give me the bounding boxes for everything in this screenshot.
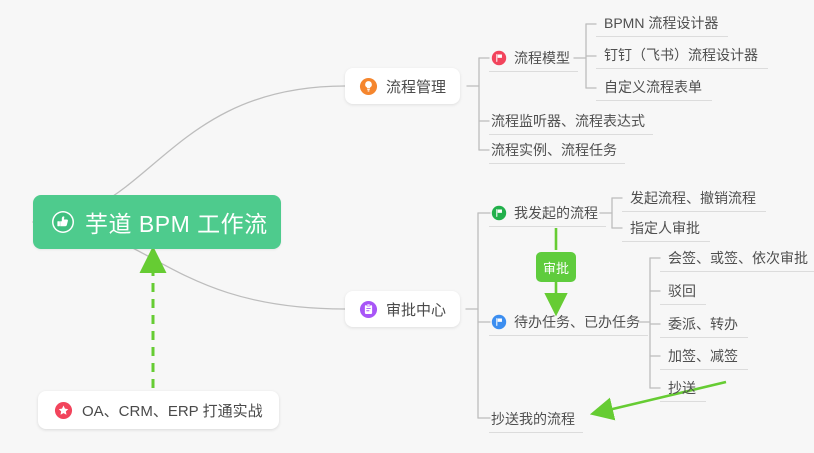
callout-label: OA、CRM、ERP 打通实战: [82, 400, 263, 421]
leaf-carbon-copy[interactable]: 抄送: [660, 375, 706, 402]
star-icon: [54, 401, 73, 420]
clipboard-icon: [359, 300, 378, 319]
branch-label: 审批中心: [386, 299, 446, 320]
sub-label: 流程实例、流程任务: [491, 140, 617, 160]
flag-icon: [491, 50, 507, 66]
sub-label: 待办任务、已办任务: [514, 312, 640, 332]
leaf-label: 自定义流程表单: [604, 77, 702, 97]
root-node[interactable]: 芋道 BPM 工作流: [33, 195, 281, 249]
leaf-label: 指定人审批: [630, 218, 700, 238]
leaf-delegate-transfer[interactable]: 委派、转办: [660, 311, 748, 338]
sub-label: 流程模型: [514, 48, 570, 68]
branch-label: 流程管理: [386, 76, 446, 97]
leaf-label: 会签、或签、依次审批: [668, 248, 808, 268]
sub-process-model[interactable]: 流程模型: [489, 44, 578, 72]
leaf-label: 加签、减签: [668, 346, 738, 366]
flag-icon: [491, 205, 507, 221]
leaf-custom-form[interactable]: 自定义流程表单: [596, 74, 712, 101]
integration-callout[interactable]: OA、CRM、ERP 打通实战: [38, 391, 279, 429]
approval-badge[interactable]: 审批: [536, 252, 576, 282]
leaf-assign-approver[interactable]: 指定人审批: [622, 215, 710, 242]
sub-my-started-process[interactable]: 我发起的流程: [489, 199, 606, 227]
sub-label: 流程监听器、流程表达式: [491, 111, 645, 131]
sub-label: 我发起的流程: [514, 203, 598, 223]
sub-label: 抄送我的流程: [491, 409, 575, 429]
lightbulb-icon: [359, 77, 378, 96]
branch-process-management[interactable]: 流程管理: [345, 68, 460, 104]
sub-todo-done-task[interactable]: 待办任务、已办任务: [489, 308, 648, 336]
leaf-add-remove-sign[interactable]: 加签、减签: [660, 343, 748, 370]
mindmap-canvas: 芋道 BPM 工作流 流程管理 流程模型 BPMN 流程设计器 钉钉（飞书: [0, 0, 814, 453]
leaf-label: BPMN 流程设计器: [604, 13, 718, 33]
leaf-label: 抄送: [668, 378, 696, 398]
flag-icon: [491, 314, 507, 330]
leaf-bpmn-designer[interactable]: BPMN 流程设计器: [596, 10, 728, 37]
leaf-label: 委派、转办: [668, 314, 738, 334]
leaf-dingtalk-designer[interactable]: 钉钉（飞书）流程设计器: [596, 42, 768, 69]
leaf-label: 钉钉（飞书）流程设计器: [604, 45, 758, 65]
leaf-label: 驳回: [668, 281, 696, 301]
thumbs-up-icon: [51, 210, 75, 234]
badge-label: 审批: [543, 258, 569, 277]
leaf-countersign[interactable]: 会签、或签、依次审批: [660, 245, 814, 272]
leaf-start-cancel-process[interactable]: 发起流程、撤销流程: [622, 185, 766, 212]
leaf-label: 发起流程、撤销流程: [630, 188, 756, 208]
sub-process-listener[interactable]: 流程监听器、流程表达式: [489, 107, 653, 135]
sub-process-instance[interactable]: 流程实例、流程任务: [489, 136, 625, 164]
branch-approval-center[interactable]: 审批中心: [345, 291, 460, 327]
sub-cc-to-me-process[interactable]: 抄送我的流程: [489, 405, 583, 433]
root-label: 芋道 BPM 工作流: [85, 205, 268, 239]
leaf-reject[interactable]: 驳回: [660, 278, 706, 305]
